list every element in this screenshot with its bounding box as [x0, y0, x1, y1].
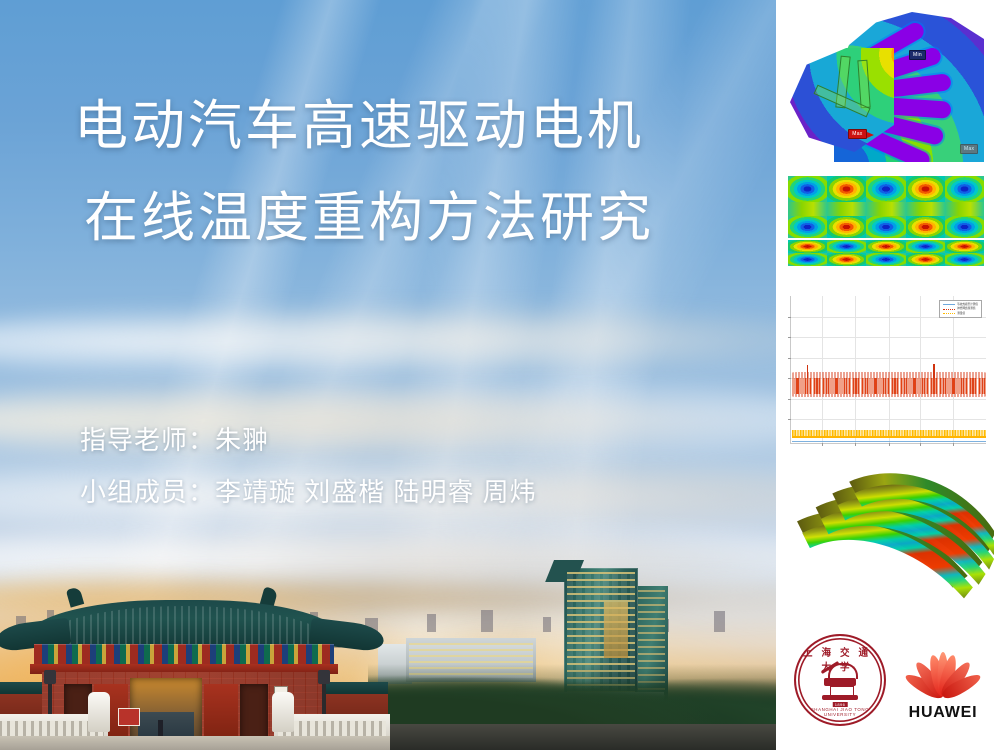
logo-row: 上海交通大学 1896 SHANGHAI JIAO TONG UNIVERSIT… — [776, 628, 1000, 738]
signal-spike — [807, 365, 808, 378]
legend-swatch-measured — [943, 313, 955, 314]
emblem-base — [822, 695, 858, 700]
legend-item: 神经网络预测值 — [943, 307, 978, 310]
gate-plaza-ground — [0, 736, 390, 750]
legend-label-measured: 测量值 — [957, 312, 965, 315]
sjtu-logo: 上海交通大学 1896 SHANGHAI JIAO TONG UNIVERSIT… — [794, 634, 886, 726]
signal-spike — [933, 364, 934, 379]
legend-swatch-thermal-model — [943, 304, 955, 305]
title-line-1: 电动汽车高速驱动电机 — [74, 80, 776, 172]
sjtu-logo-en-text: SHANGHAI JIAO TONG UNIVERSITY — [796, 707, 884, 717]
field-row — [788, 240, 984, 253]
campus-road — [368, 724, 776, 750]
figure-motor-sector-temperature-field: Min Max Max — [778, 4, 998, 164]
figure-temperature-signal-chart: 等效热模型计算值 神经网络预测值 测量值 — [790, 296, 986, 444]
figure-curved-bar-thermal-3d — [782, 466, 994, 624]
series-neural-network-prediction-core — [792, 378, 986, 394]
legend-swatch-neural-network — [943, 309, 955, 310]
advisor-line: 指导老师：朱翀 — [80, 414, 776, 466]
legend-label-thermal-model: 等效热模型计算值 — [957, 303, 978, 306]
presentation-title-slide: 电动汽车高速驱动电机 在线温度重构方法研究 指导老师：朱翀 小组成员：李靖璇 刘… — [0, 0, 1000, 750]
background-photo: 电动汽车高速驱动电机 在线温度重构方法研究 指导老师：朱翀 小组成员：李靖璇 刘… — [0, 0, 776, 750]
sjtu-gate — [0, 586, 390, 750]
team-members-line: 小组成员：李靖璇 刘盛楷 陆明睿 周炜 — [80, 466, 776, 518]
stone-lion-right — [272, 692, 294, 732]
series-measured-baseline — [792, 436, 986, 438]
sjtu-logo-emblem — [818, 662, 862, 702]
field-row — [788, 176, 984, 202]
roof-ridge-ornament — [66, 586, 84, 607]
chart-legend: 等效热模型计算值 神经网络预测值 测量值 — [939, 300, 982, 318]
huawei-logo: HUAWEI — [900, 640, 986, 722]
title-line-2: 在线温度重构方法研究 — [84, 172, 776, 264]
figure-periodic-temperature-field-map — [788, 176, 984, 266]
field-row — [788, 202, 984, 216]
label-max-secondary: Max — [960, 144, 978, 154]
field-row — [788, 253, 984, 266]
huawei-wordmark: HUAWEI — [900, 704, 986, 722]
field-row — [788, 216, 984, 238]
series-thermal-model-value — [792, 441, 986, 442]
slide-subtitle: 指导老师：朱翀 小组成员：李靖璇 刘盛楷 陆明睿 周炜 — [0, 414, 776, 518]
label-min: Min — [909, 50, 926, 60]
label-max: Max — [848, 129, 866, 139]
legend-label-neural-network: 神经网络预测值 — [957, 307, 975, 310]
stone-lion-left — [88, 692, 110, 732]
gate-painted-frieze — [34, 644, 334, 666]
curved-bars-svg — [782, 466, 994, 624]
campus-buildings — [368, 560, 776, 750]
slide-title: 电动汽车高速驱动电机 在线温度重构方法研究 — [0, 80, 776, 264]
legend-item: 测量值 — [943, 312, 978, 315]
tower-lit-windows — [604, 602, 628, 658]
legend-item: 等效热模型计算值 — [943, 303, 978, 306]
figure-sidebar: Min Max Max — [776, 0, 1000, 750]
